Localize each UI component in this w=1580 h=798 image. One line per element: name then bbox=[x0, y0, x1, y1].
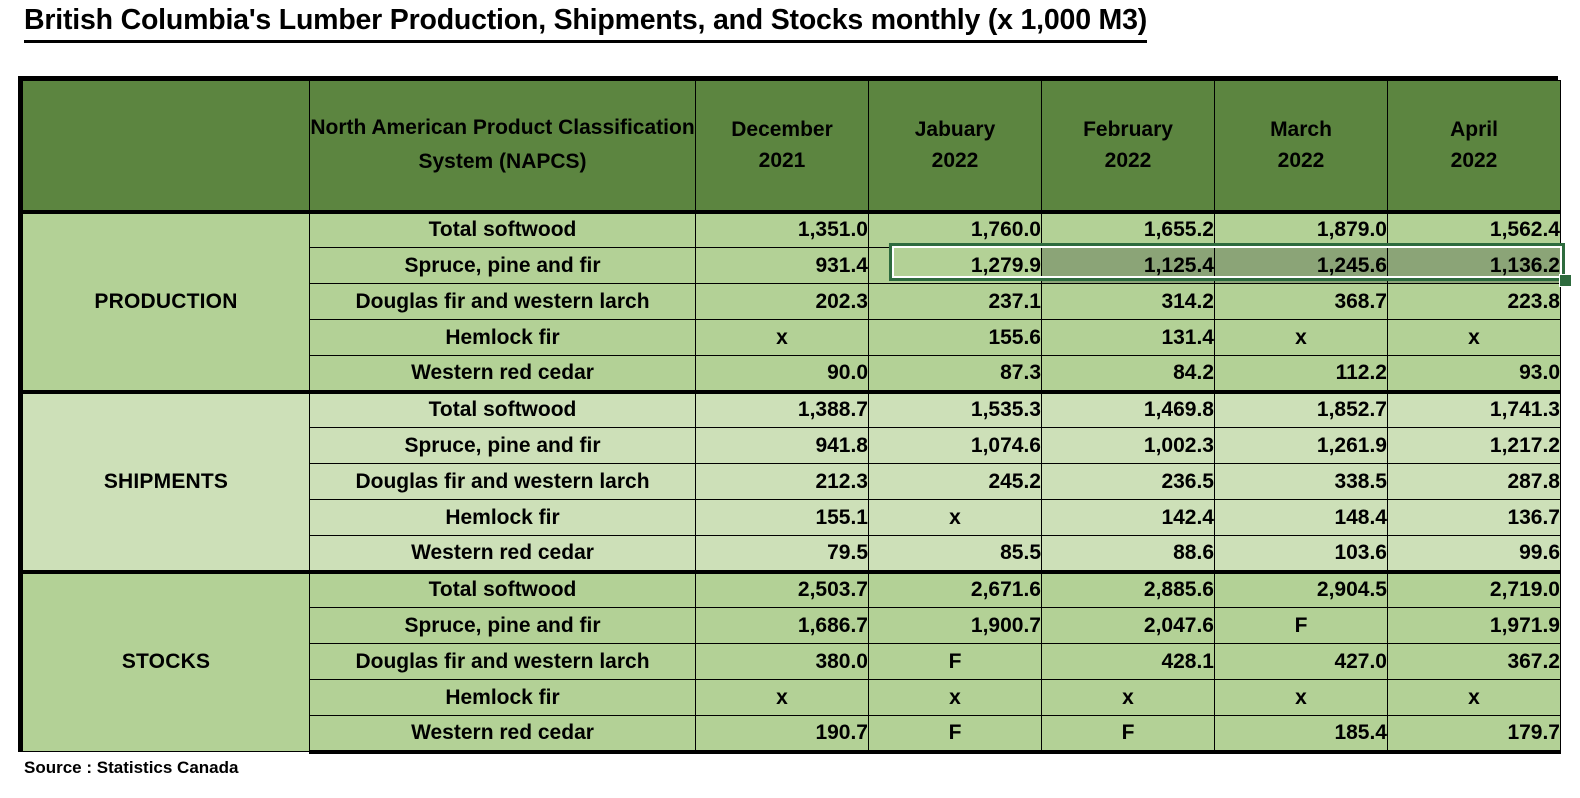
cell-value[interactable]: x bbox=[1215, 320, 1388, 356]
section-label-production: PRODUCTION bbox=[23, 212, 310, 392]
table-row: STOCKSTotal softwood2,503.72,671.62,885.… bbox=[23, 572, 1561, 608]
cell-value[interactable]: 245.2 bbox=[869, 464, 1042, 500]
cell-value[interactable]: 202.3 bbox=[696, 284, 869, 320]
spreadsheet-page: British Columbia's Lumber Production, Sh… bbox=[0, 0, 1580, 798]
header-month-april[interactable]: April 2022 bbox=[1388, 81, 1561, 212]
table-row: SHIPMENTSTotal softwood1,388.71,535.31,4… bbox=[23, 392, 1561, 428]
cell-value[interactable]: 1,741.3 bbox=[1388, 392, 1561, 428]
row-label-hemlock-fir: Hemlock fir bbox=[310, 680, 696, 716]
cell-value[interactable]: x bbox=[869, 680, 1042, 716]
cell-value[interactable]: 1,852.7 bbox=[1215, 392, 1388, 428]
header-row: North American Product Classification Sy… bbox=[23, 81, 1561, 212]
cell-value[interactable]: x bbox=[869, 500, 1042, 536]
page-title: British Columbia's Lumber Production, Sh… bbox=[24, 2, 1147, 43]
cell-value[interactable]: 1,469.8 bbox=[1042, 392, 1215, 428]
cell-value[interactable]: x bbox=[1388, 320, 1561, 356]
cell-value[interactable]: 1,388.7 bbox=[696, 392, 869, 428]
cell-value[interactable]: 1,686.7 bbox=[696, 608, 869, 644]
header-month-year: 2022 bbox=[869, 145, 1041, 176]
cell-value[interactable]: 185.4 bbox=[1215, 716, 1388, 752]
table-body: PRODUCTIONTotal softwood1,351.01,760.01,… bbox=[23, 212, 1561, 752]
row-label-western-red-cedar: Western red cedar bbox=[310, 716, 696, 752]
cell-value[interactable]: x bbox=[1388, 680, 1561, 716]
lumber-data-table: North American Product Classification Sy… bbox=[18, 76, 1558, 752]
cell-value[interactable]: 2,885.6 bbox=[1042, 572, 1215, 608]
cell-value[interactable]: 236.5 bbox=[1042, 464, 1215, 500]
cell-value[interactable]: 1,279.9 bbox=[869, 248, 1042, 284]
row-label-hemlock-fir: Hemlock fir bbox=[310, 320, 696, 356]
row-label-western-red-cedar: Western red cedar bbox=[310, 536, 696, 572]
cell-value[interactable]: 941.8 bbox=[696, 428, 869, 464]
cell-value[interactable]: 1,879.0 bbox=[1215, 212, 1388, 248]
cell-value[interactable]: 1,900.7 bbox=[869, 608, 1042, 644]
row-label-spruce-pine-and-fir: Spruce, pine and fir bbox=[310, 608, 696, 644]
source-note: Source : Statistics Canada bbox=[24, 758, 238, 778]
cell-value[interactable]: 85.5 bbox=[869, 536, 1042, 572]
cell-value[interactable]: 2,503.7 bbox=[696, 572, 869, 608]
header-month-year: 2022 bbox=[1042, 145, 1214, 176]
cell-value[interactable]: 2,719.0 bbox=[1388, 572, 1561, 608]
cell-value[interactable]: 103.6 bbox=[1215, 536, 1388, 572]
header-napcs-line1: North American Product bbox=[310, 116, 552, 139]
cell-value[interactable]: 287.8 bbox=[1388, 464, 1561, 500]
header-napcs-line3: (NAPCS) bbox=[499, 150, 587, 173]
cell-value[interactable]: x bbox=[696, 320, 869, 356]
table-row: PRODUCTIONTotal softwood1,351.01,760.01,… bbox=[23, 212, 1561, 248]
row-label-total-softwood: Total softwood bbox=[310, 392, 696, 428]
row-label-total-softwood: Total softwood bbox=[310, 212, 696, 248]
row-label-spruce-pine-and-fir: Spruce, pine and fir bbox=[310, 248, 696, 284]
cell-value[interactable]: 112.2 bbox=[1215, 356, 1388, 392]
header-month-february[interactable]: February 2022 bbox=[1042, 81, 1215, 212]
cell-value[interactable]: 136.7 bbox=[1388, 500, 1561, 536]
cell-value[interactable]: 212.3 bbox=[696, 464, 869, 500]
header-month-year: 2021 bbox=[696, 145, 868, 176]
cell-value[interactable]: 1,535.3 bbox=[869, 392, 1042, 428]
table: North American Product Classification Sy… bbox=[22, 80, 1561, 754]
header-month-march[interactable]: March 2022 bbox=[1215, 81, 1388, 212]
cell-value[interactable]: 368.7 bbox=[1215, 284, 1388, 320]
header-month-december[interactable]: December 2021 bbox=[696, 81, 869, 212]
header-month-name: Jabuary bbox=[869, 114, 1041, 145]
cell-value[interactable]: 237.1 bbox=[869, 284, 1042, 320]
cell-value[interactable]: 1,760.0 bbox=[869, 212, 1042, 248]
row-label-douglas-fir-and-western-larch: Douglas fir and western larch bbox=[310, 644, 696, 680]
section-label-stocks: STOCKS bbox=[23, 572, 310, 752]
header-month-name: February bbox=[1042, 114, 1214, 145]
row-label-hemlock-fir: Hemlock fir bbox=[310, 500, 696, 536]
cell-value[interactable]: 427.0 bbox=[1215, 644, 1388, 680]
header-corner-blank bbox=[23, 81, 310, 212]
header-month-year: 2022 bbox=[1388, 145, 1560, 176]
cell-value[interactable]: x bbox=[696, 680, 869, 716]
cell-value[interactable]: 1,261.9 bbox=[1215, 428, 1388, 464]
cell-value[interactable]: 79.5 bbox=[696, 536, 869, 572]
cell-value[interactable]: 1,002.3 bbox=[1042, 428, 1215, 464]
header-napcs: North American Product Classification Sy… bbox=[310, 81, 696, 212]
cell-value[interactable]: 1,217.2 bbox=[1388, 428, 1561, 464]
cell-value[interactable]: 2,671.6 bbox=[869, 572, 1042, 608]
cell-value[interactable]: F bbox=[1215, 608, 1388, 644]
cell-value[interactable]: 2,047.6 bbox=[1042, 608, 1215, 644]
row-label-total-softwood: Total softwood bbox=[310, 572, 696, 608]
cell-value[interactable]: 428.1 bbox=[1042, 644, 1215, 680]
cell-value[interactable]: 2,904.5 bbox=[1215, 572, 1388, 608]
cell-value[interactable]: 1,136.2 bbox=[1388, 248, 1561, 284]
cell-value[interactable]: 142.4 bbox=[1042, 500, 1215, 536]
cell-value[interactable]: 190.7 bbox=[696, 716, 869, 752]
header-month-year: 2022 bbox=[1215, 145, 1387, 176]
cell-value[interactable]: 314.2 bbox=[1042, 284, 1215, 320]
cell-value[interactable]: 90.0 bbox=[696, 356, 869, 392]
cell-value[interactable]: 131.4 bbox=[1042, 320, 1215, 356]
cell-value[interactable]: 338.5 bbox=[1215, 464, 1388, 500]
cell-value[interactable]: 88.6 bbox=[1042, 536, 1215, 572]
cell-value[interactable]: 367.2 bbox=[1388, 644, 1561, 680]
cell-value[interactable]: F bbox=[1042, 716, 1215, 752]
cell-value[interactable]: x bbox=[1215, 680, 1388, 716]
cell-value[interactable]: 223.8 bbox=[1388, 284, 1561, 320]
header-month-jabuary[interactable]: Jabuary 2022 bbox=[869, 81, 1042, 212]
row-label-douglas-fir-and-western-larch: Douglas fir and western larch bbox=[310, 284, 696, 320]
section-label-shipments: SHIPMENTS bbox=[23, 392, 310, 572]
cell-value[interactable]: 155.1 bbox=[696, 500, 869, 536]
cell-value[interactable]: 1,971.9 bbox=[1388, 608, 1561, 644]
cell-value[interactable]: 99.6 bbox=[1388, 536, 1561, 572]
cell-value[interactable]: 84.2 bbox=[1042, 356, 1215, 392]
cell-value[interactable]: x bbox=[1042, 680, 1215, 716]
cell-value[interactable]: 931.4 bbox=[696, 248, 869, 284]
row-label-spruce-pine-and-fir: Spruce, pine and fir bbox=[310, 428, 696, 464]
header-month-name: March bbox=[1215, 114, 1387, 145]
cell-value[interactable]: 1,655.2 bbox=[1042, 212, 1215, 248]
cell-value[interactable]: 1,074.6 bbox=[869, 428, 1042, 464]
cell-value[interactable]: 1,562.4 bbox=[1388, 212, 1561, 248]
row-label-douglas-fir-and-western-larch: Douglas fir and western larch bbox=[310, 464, 696, 500]
cell-value[interactable]: 1,351.0 bbox=[696, 212, 869, 248]
cell-value[interactable]: 155.6 bbox=[869, 320, 1042, 356]
cell-value[interactable]: F bbox=[869, 644, 1042, 680]
cell-value[interactable]: 148.4 bbox=[1215, 500, 1388, 536]
cell-value[interactable]: 1,245.6 bbox=[1215, 248, 1388, 284]
header-month-name: April bbox=[1388, 114, 1560, 145]
cell-value[interactable]: 1,125.4 bbox=[1042, 248, 1215, 284]
cell-value[interactable]: 87.3 bbox=[869, 356, 1042, 392]
cell-value[interactable]: F bbox=[869, 716, 1042, 752]
cell-value[interactable]: 380.0 bbox=[696, 644, 869, 680]
row-label-western-red-cedar: Western red cedar bbox=[310, 356, 696, 392]
header-month-name: December bbox=[696, 114, 868, 145]
cell-value[interactable]: 93.0 bbox=[1388, 356, 1561, 392]
table-header: North American Product Classification Sy… bbox=[23, 81, 1561, 212]
cell-value[interactable]: 179.7 bbox=[1388, 716, 1561, 752]
